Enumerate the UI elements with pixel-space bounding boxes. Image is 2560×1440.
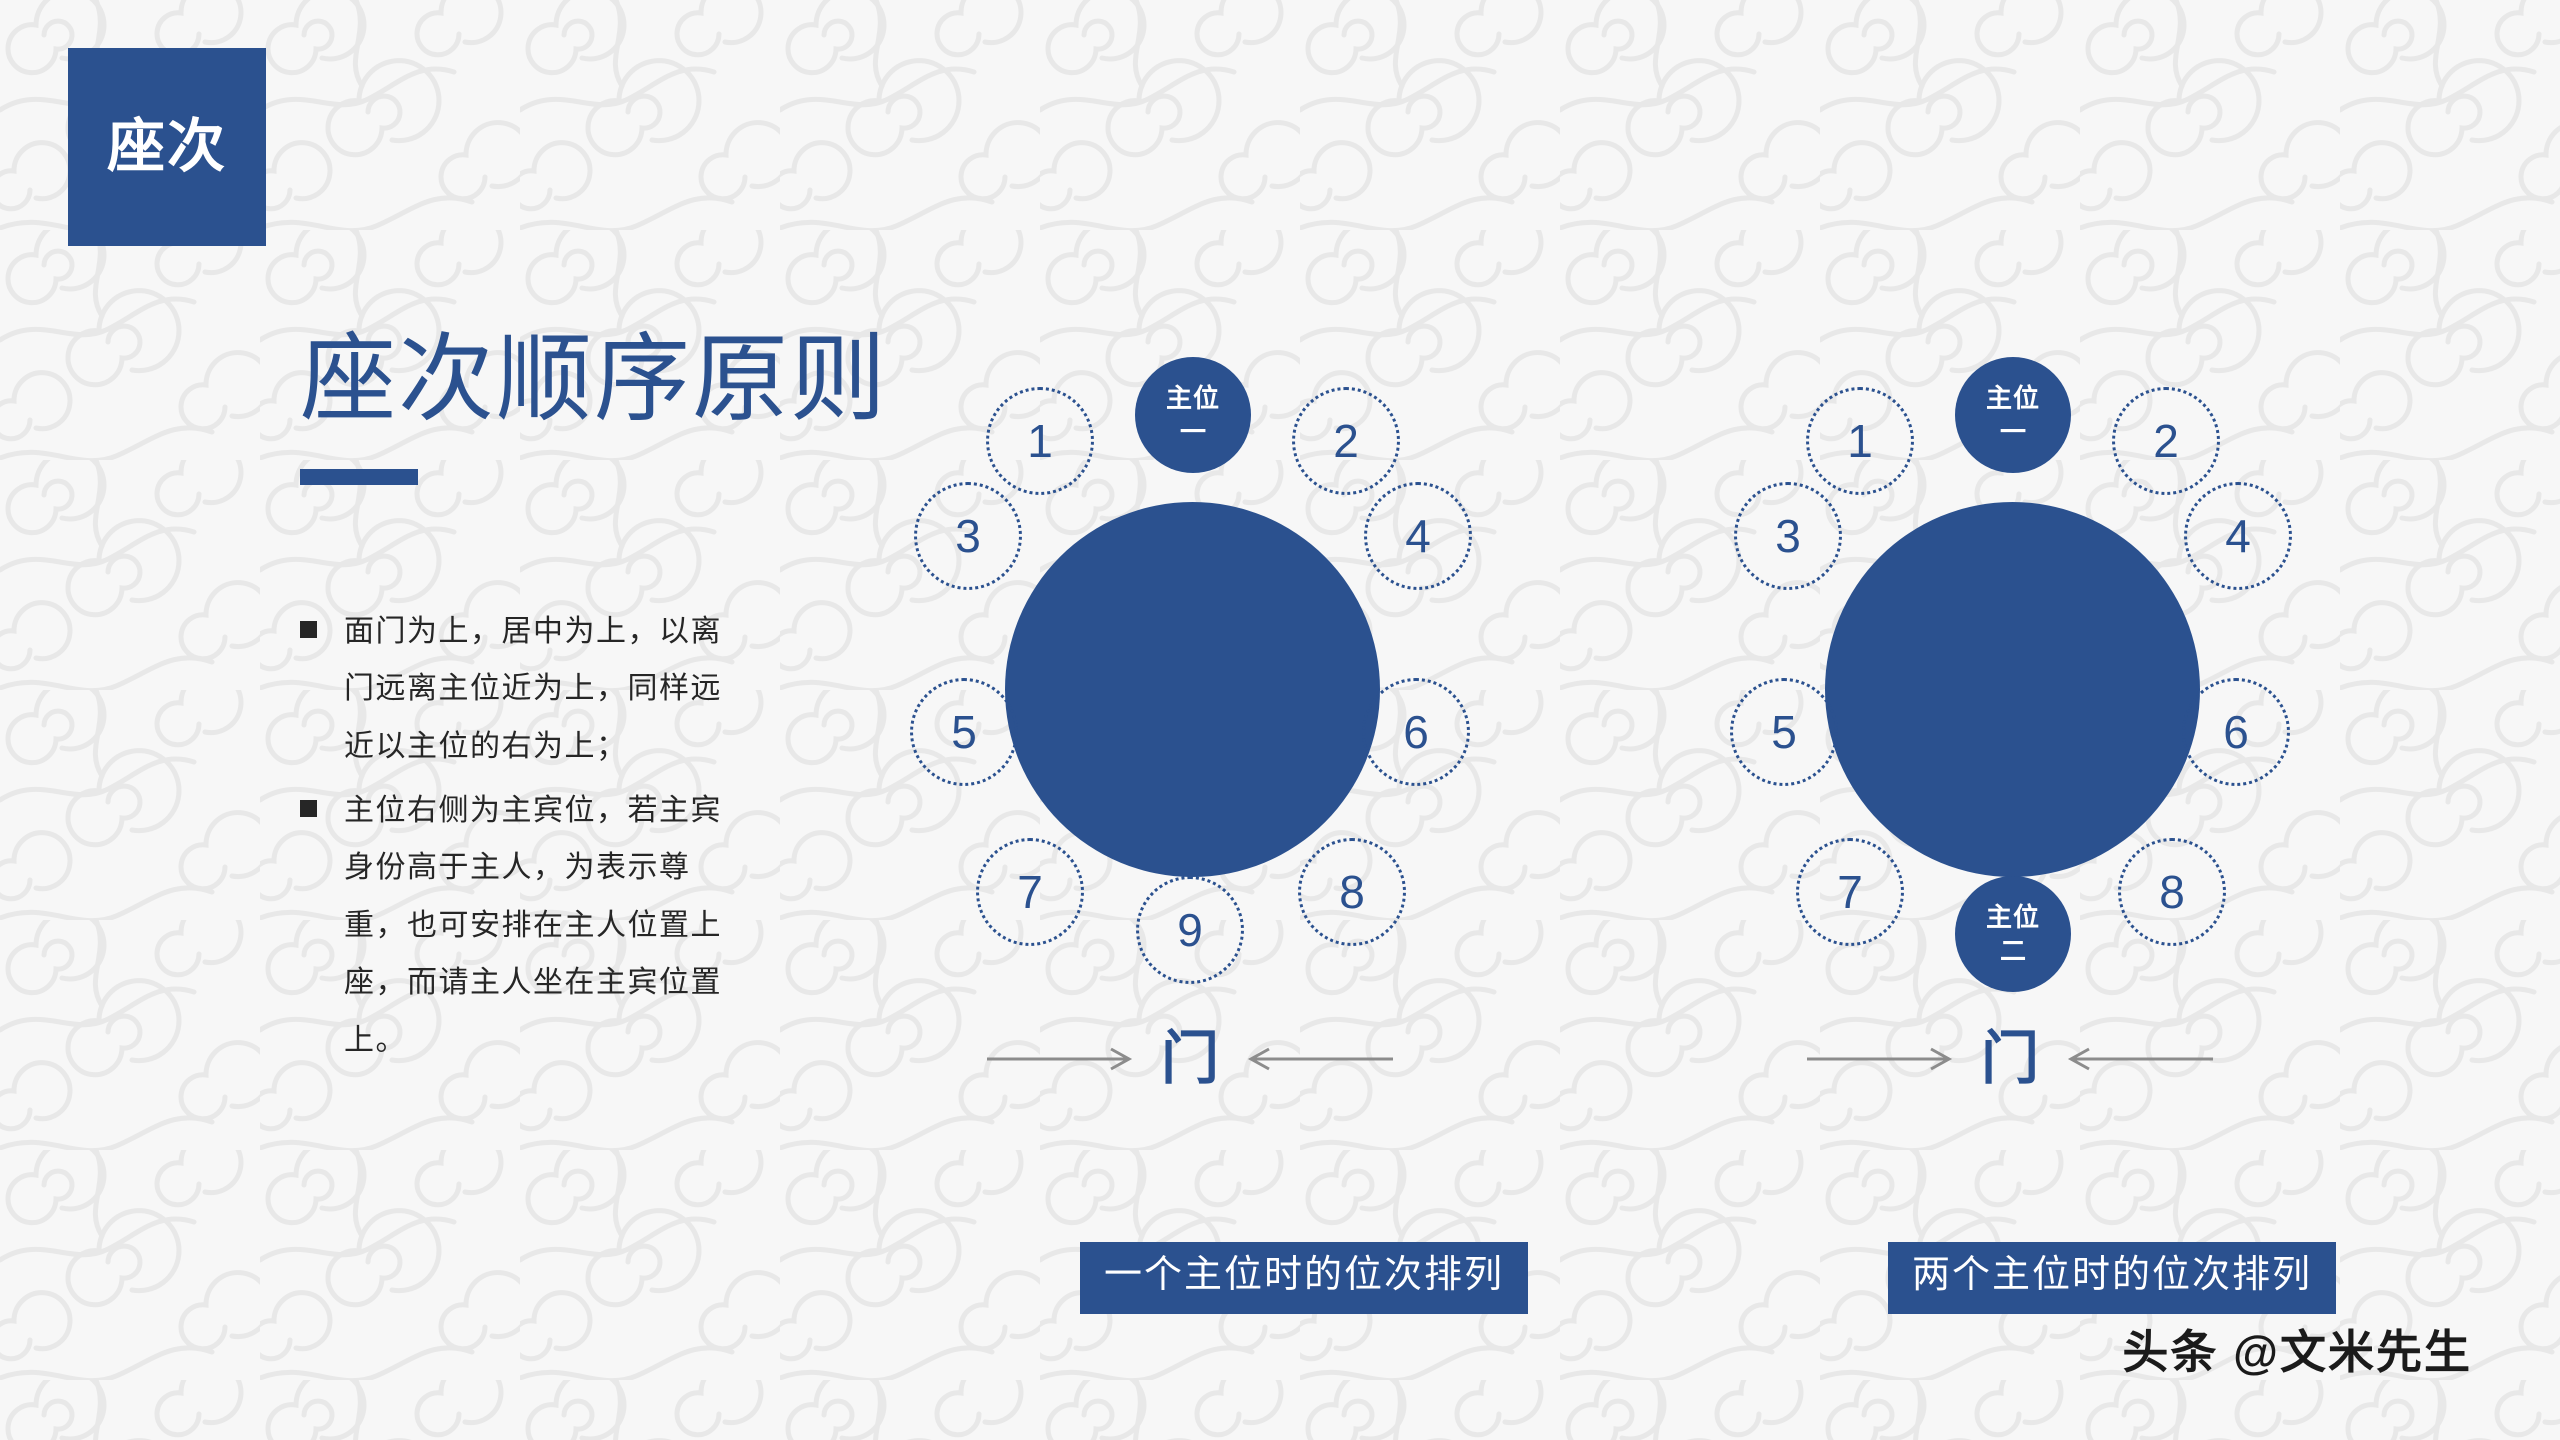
seat-8[interactable]: 8 — [1298, 838, 1406, 946]
caption-diagram-one: 一个主位时的位次排列 — [1080, 1242, 1528, 1314]
watermark: 头条 @文米先生 — [2122, 1316, 2472, 1382]
section-badge-label: 座次 — [107, 118, 227, 176]
seat-number: 5 — [951, 705, 977, 759]
seat-7[interactable]: 7 — [1796, 838, 1904, 946]
host-seat-primary[interactable]: 主位 一 — [1135, 357, 1251, 473]
square-bullet-icon — [300, 621, 317, 638]
seat-5[interactable]: 5 — [910, 678, 1018, 786]
seat-number: 2 — [2153, 414, 2179, 468]
seat-1[interactable]: 1 — [986, 387, 1094, 495]
seat-2[interactable]: 2 — [2112, 387, 2220, 495]
seating-diagram-one-host: 主位 一 1 2 3 4 5 6 7 9 8 门 — [880, 330, 1500, 1130]
seat-number: 7 — [1837, 865, 1863, 919]
host-seat-index: 一 — [2000, 419, 2026, 445]
seating-diagram-two-hosts: 主位 一 主位 二 1 2 3 4 5 6 7 8 门 — [1700, 330, 2320, 1130]
seat-3[interactable]: 3 — [914, 482, 1022, 590]
principles-bullet-list: 面门为上，居中为上，以离门远离主位近为上，同样远近以主位的右为上； 主位右侧为主… — [300, 603, 740, 1070]
seat-8[interactable]: 8 — [2118, 838, 2226, 946]
host-seat-primary[interactable]: 主位 一 — [1955, 357, 2071, 473]
seat-number: 6 — [2223, 705, 2249, 759]
door-label: 门 — [1161, 1030, 1219, 1088]
door-indicator: 门 — [880, 1030, 1500, 1088]
square-bullet-icon — [300, 800, 317, 817]
host-seat-label: 主位 — [1166, 385, 1220, 411]
host-seat-index: 二 — [2000, 938, 2026, 964]
seat-4[interactable]: 4 — [2184, 482, 2292, 590]
round-table — [1005, 502, 1380, 877]
seat-1[interactable]: 1 — [1806, 387, 1914, 495]
host-seat-label: 主位 — [1986, 385, 2040, 411]
seat-6[interactable]: 6 — [1362, 678, 1470, 786]
seat-number: 8 — [1339, 865, 1365, 919]
bullet-text: 面门为上，居中为上，以离门远离主位近为上，同样远近以主位的右为上； — [344, 603, 724, 776]
arrow-left-icon — [1245, 1046, 1395, 1072]
caption-diagram-two: 两个主位时的位次排列 — [1888, 1242, 2336, 1314]
seat-number: 2 — [1333, 414, 1359, 468]
seat-6[interactable]: 6 — [2182, 678, 2290, 786]
title-underline-rule — [300, 469, 418, 485]
round-table — [1825, 502, 2200, 877]
list-item: 主位右侧为主宾位，若主宾身份高于主人，为表示尊重，也可安排在主人位置上座，而请主… — [300, 782, 740, 1070]
seat-number: 6 — [1403, 705, 1429, 759]
host-seat-secondary[interactable]: 主位 二 — [1955, 876, 2071, 992]
seat-number: 4 — [2225, 509, 2251, 563]
door-label: 门 — [1981, 1030, 2039, 1088]
section-badge: 座次 — [68, 48, 266, 246]
seat-number: 7 — [1017, 865, 1043, 919]
page-title: 座次顺序原则 — [300, 330, 860, 431]
seat-number: 3 — [955, 509, 981, 563]
host-seat-index: 一 — [1180, 419, 1206, 445]
seat-9[interactable]: 9 — [1136, 876, 1244, 984]
arrow-left-icon — [2065, 1046, 2215, 1072]
seat-4[interactable]: 4 — [1364, 482, 1472, 590]
seat-number: 4 — [1405, 509, 1431, 563]
seat-3[interactable]: 3 — [1734, 482, 1842, 590]
arrow-right-icon — [1805, 1046, 1955, 1072]
seat-number: 9 — [1177, 903, 1203, 957]
seat-number: 3 — [1775, 509, 1801, 563]
bullet-text: 主位右侧为主宾位，若主宾身份高于主人，为表示尊重，也可安排在主人位置上座，而请主… — [344, 782, 724, 1070]
seat-5[interactable]: 5 — [1730, 678, 1838, 786]
seat-number: 8 — [2159, 865, 2185, 919]
seat-number: 1 — [1847, 414, 1873, 468]
arrow-right-icon — [985, 1046, 1135, 1072]
list-item: 面门为上，居中为上，以离门远离主位近为上，同样远近以主位的右为上； — [300, 603, 740, 776]
seat-2[interactable]: 2 — [1292, 387, 1400, 495]
seat-7[interactable]: 7 — [976, 838, 1084, 946]
host-seat-label: 主位 — [1986, 904, 2040, 930]
seat-number: 5 — [1771, 705, 1797, 759]
door-indicator: 门 — [1700, 1030, 2320, 1088]
seat-number: 1 — [1027, 414, 1053, 468]
left-content-column: 座次顺序原则 面门为上，居中为上，以离门远离主位近为上，同样远近以主位的右为上；… — [300, 330, 860, 1076]
